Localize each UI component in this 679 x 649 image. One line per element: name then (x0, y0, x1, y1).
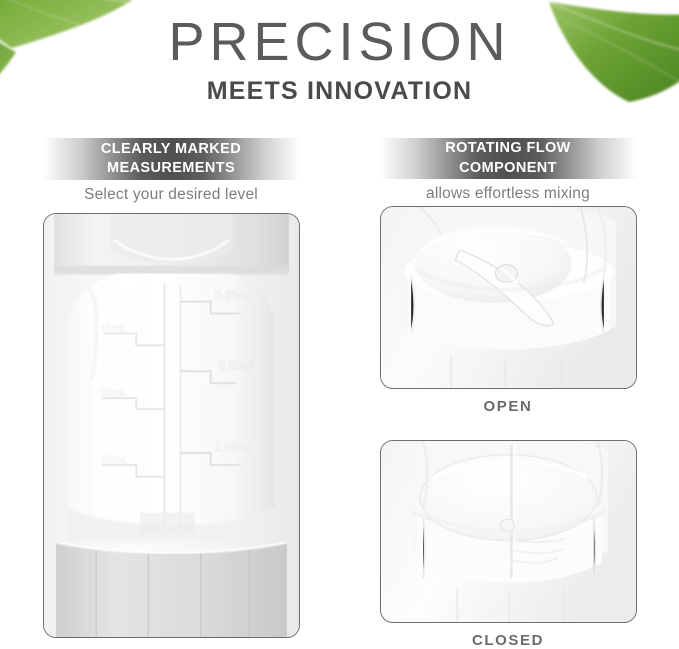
banner-line-1: CLEARLY MARKED (101, 140, 241, 159)
measure-label-ml-1: 15mL (100, 322, 128, 334)
banner-rotating-flow: ROTATING FLOW COMPONENT (380, 138, 637, 179)
banner-measurements: CLEARLY MARKED MEASUREMENTS (43, 138, 300, 180)
banner-line-2: COMPONENT (459, 159, 557, 178)
banner-line-1: ROTATING FLOW (445, 139, 570, 158)
headline-block: PRECISION MEETS INNOVATION (0, 14, 679, 106)
bottle-illustration: 0.25oz 0.50oz 1.00oz 15mL 30mL 45mL (44, 214, 299, 637)
measure-label-ml-2: 30mL (100, 387, 128, 399)
bottle-with-measurements-photo: 0.25oz 0.50oz 1.00oz 15mL 30mL 45mL (43, 213, 300, 638)
measure-label-oz-025: 0.25oz (214, 289, 250, 303)
banner-line-2: MEASUREMENTS (107, 159, 235, 178)
subtitle-measurements: Select your desired level (43, 183, 300, 207)
subtitle-rotating-flow: allows effortless mixing (380, 182, 637, 206)
flow-component-closed-photo (380, 440, 637, 623)
caption-closed: CLOSED (380, 623, 637, 649)
page-subtitle: MEETS INNOVATION (0, 77, 679, 106)
closed-flow-illustration (381, 441, 636, 622)
measure-label-oz-050: 0.50oz (218, 358, 254, 372)
caption-open: OPEN (380, 389, 637, 415)
open-flow-illustration (381, 207, 636, 388)
feature-columns: CLEARLY MARKED MEASUREMENTS Select your … (0, 138, 679, 649)
page-title: PRECISION (0, 14, 679, 71)
feature-column-rotating-flow: ROTATING FLOW COMPONENT allows effortles… (380, 138, 637, 649)
measure-label-ml-3: 45mL (100, 454, 128, 466)
flow-component-open-photo (380, 206, 637, 389)
feature-column-measurements: CLEARLY MARKED MEASUREMENTS Select your … (43, 138, 300, 649)
measure-label-oz-100: 1.00oz (214, 440, 250, 454)
